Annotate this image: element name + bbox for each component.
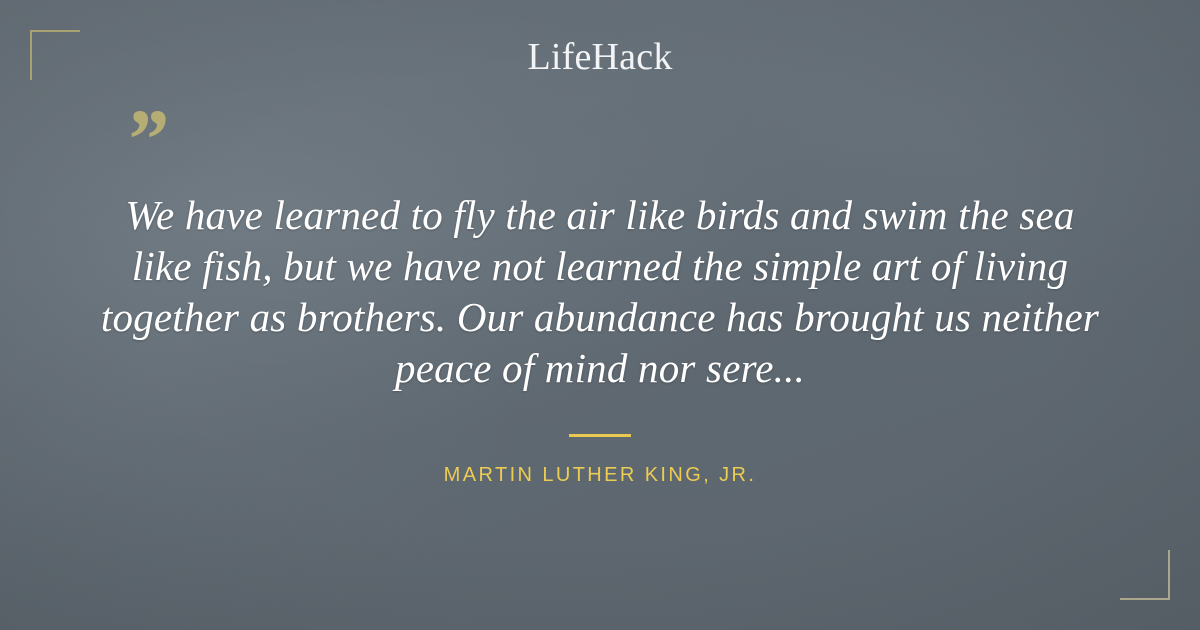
author-name: MARTIN LUTHER KING, JR. — [0, 464, 1200, 487]
attribution-divider — [569, 434, 631, 437]
corner-bracket-bottom-right-icon — [1120, 550, 1170, 600]
quote-line: together as brothers. Our abundance has … — [80, 292, 1120, 343]
quote-text: We have learned to fly the air like bird… — [80, 190, 1120, 394]
quote-line: like fish, but we have not learned the s… — [80, 241, 1120, 292]
quote-card: LifeHack ” We have learned to fly the ai… — [0, 0, 1200, 630]
quote-line: peace of mind nor sere... — [80, 343, 1120, 394]
quote-line: We have learned to fly the air like bird… — [80, 190, 1120, 241]
quotation-mark-icon: ” — [124, 96, 167, 182]
brand-logo: LifeHack — [0, 38, 1200, 76]
